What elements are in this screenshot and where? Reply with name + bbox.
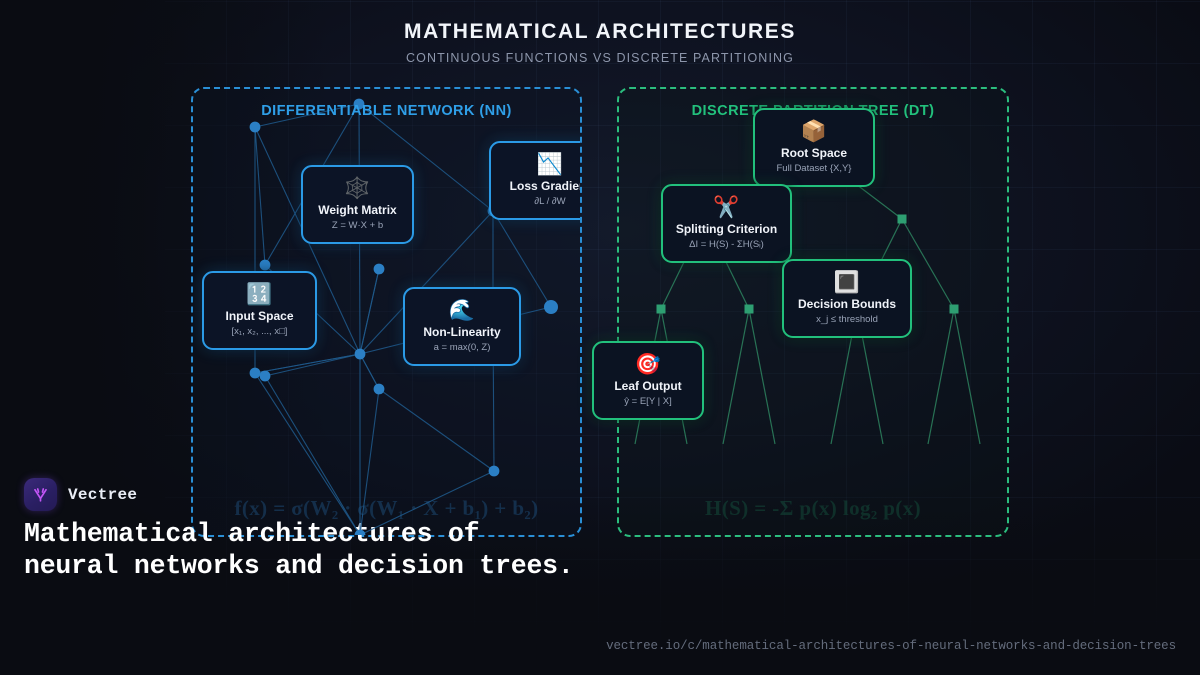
canvas: MATHEMATICAL ARCHITECTURES CONTINUOUS FU… xyxy=(0,0,1200,675)
wave-icon: 🌊 xyxy=(417,298,507,323)
scissors-icon: ✂️ xyxy=(675,195,778,220)
spider-web-icon: 🕸️ xyxy=(315,176,400,201)
vectree-logo-icon xyxy=(24,478,57,511)
brand: Vectree xyxy=(24,478,137,511)
package-icon: 📦 xyxy=(767,119,861,144)
panel-discrete-partition-tree: DISCRETE PARTITION TREE (DT) H(S) = -Σ p… xyxy=(617,87,1009,537)
node-leaf-output[interactable]: 🎯 Leaf Output ŷ = E[Y | X] xyxy=(592,341,704,420)
target-icon: 🎯 xyxy=(606,352,690,377)
node-title: Loss Gradient xyxy=(503,179,582,194)
node-subtitle: a = max(0, Z) xyxy=(417,342,507,354)
white-square-button-icon: 🔳 xyxy=(796,270,898,295)
chart-decreasing-icon: 📉 xyxy=(503,152,582,177)
node-subtitle: x_j ≤ threshold xyxy=(796,314,898,326)
node-title: Weight Matrix xyxy=(315,203,400,218)
node-subtitle: Full Dataset {X,Y} xyxy=(767,163,861,175)
node-subtitle: ∂L / ∂W xyxy=(503,196,582,208)
node-title: Input Space xyxy=(216,309,303,324)
node-subtitle: [x₁, x₂, ..., x□] xyxy=(216,326,303,338)
header: MATHEMATICAL ARCHITECTURES CONTINUOUS FU… xyxy=(0,20,1200,65)
node-title: Root Space xyxy=(767,146,861,161)
panel-differentiable-network: DIFFERENTIABLE NETWORK (NN) f(x) = σ(W₂ … xyxy=(191,87,582,537)
node-weight-matrix[interactable]: 🕸️ Weight Matrix Z = W·X + b xyxy=(301,165,414,244)
node-input-space[interactable]: 🔢 Input Space [x₁, x₂, ..., x□] xyxy=(202,271,317,350)
node-title: Decision Bounds xyxy=(796,297,898,312)
node-subtitle: ΔI = H(S) - ΣH(Sᵢ) xyxy=(675,239,778,251)
node-loss-gradient[interactable]: 📉 Loss Gradient ∂L / ∂W xyxy=(489,141,582,220)
node-title: Splitting Criterion xyxy=(675,222,778,237)
brand-name: Vectree xyxy=(68,486,137,504)
node-title: Leaf Output xyxy=(606,379,690,394)
input-numbers-icon: 🔢 xyxy=(216,282,303,307)
page-title: MATHEMATICAL ARCHITECTURES xyxy=(0,20,1200,44)
node-non-linearity[interactable]: 🌊 Non-Linearity a = max(0, Z) xyxy=(403,287,521,366)
node-decision-bounds[interactable]: 🔳 Decision Bounds x_j ≤ threshold xyxy=(782,259,912,338)
node-subtitle: ŷ = E[Y | X] xyxy=(606,396,690,408)
node-splitting-criterion[interactable]: ✂️ Splitting Criterion ΔI = H(S) - ΣH(Sᵢ… xyxy=(661,184,792,263)
page-subtitle: CONTINUOUS FUNCTIONS VS DISCRETE PARTITI… xyxy=(0,51,1200,65)
node-subtitle: Z = W·X + b xyxy=(315,220,400,232)
source-url: vectree.io/c/mathematical-architectures-… xyxy=(606,639,1176,653)
node-root-space[interactable]: 📦 Root Space Full Dataset {X,Y} xyxy=(753,108,875,187)
node-title: Non-Linearity xyxy=(417,325,507,340)
